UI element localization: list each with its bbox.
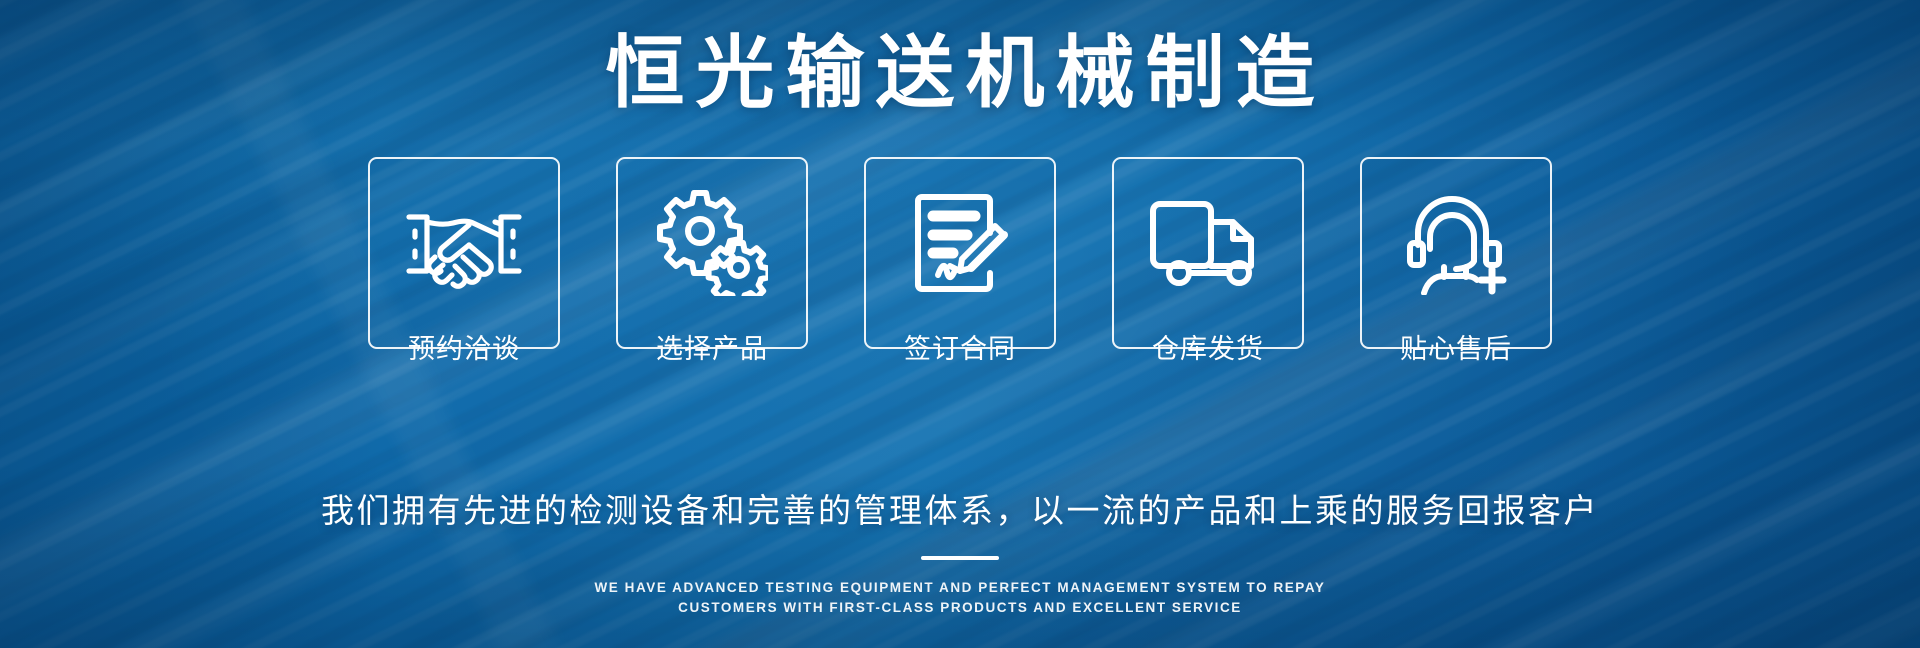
divider: [921, 556, 999, 560]
banner-content: 恒光输送机械制造: [0, 0, 1920, 648]
step-label: 签订合同: [893, 330, 1027, 368]
step-item-1[interactable]: 预约洽谈: [368, 157, 560, 349]
handshake-icon: [368, 187, 560, 299]
subtitle-line-1: WE HAVE ADVANCED TESTING EQUIPMENT AND P…: [0, 578, 1920, 598]
step-item-4[interactable]: 仓库发货: [1112, 157, 1304, 349]
subtitle-line-2: CUSTOMERS WITH FIRST-CLASS PRODUCTS AND …: [0, 598, 1920, 618]
step-item-3[interactable]: 签订合同: [864, 157, 1056, 349]
delivery-truck-icon: [1112, 187, 1304, 299]
process-steps: 预约洽谈 选择产品: [0, 157, 1920, 349]
step-item-2[interactable]: 选择产品: [616, 157, 808, 349]
gears-icon: [616, 187, 808, 299]
customer-service-headset-icon: [1360, 187, 1552, 299]
page-title: 恒光输送机械制造: [0, 30, 1920, 115]
step-label: 预约洽谈: [397, 330, 531, 368]
step-label: 仓库发货: [1141, 330, 1275, 368]
step-label: 贴心售后: [1389, 330, 1523, 368]
tagline: 我们拥有先进的检测设备和完善的管理体系，以一流的产品和上乘的服务回报客户: [0, 484, 1920, 532]
step-item-5[interactable]: 贴心售后: [1360, 157, 1552, 349]
promo-banner: 恒光输送机械制造: [0, 0, 1920, 648]
step-label: 选择产品: [645, 330, 779, 368]
contract-signing-icon: [864, 187, 1056, 299]
subtitle: WE HAVE ADVANCED TESTING EQUIPMENT AND P…: [0, 578, 1920, 618]
